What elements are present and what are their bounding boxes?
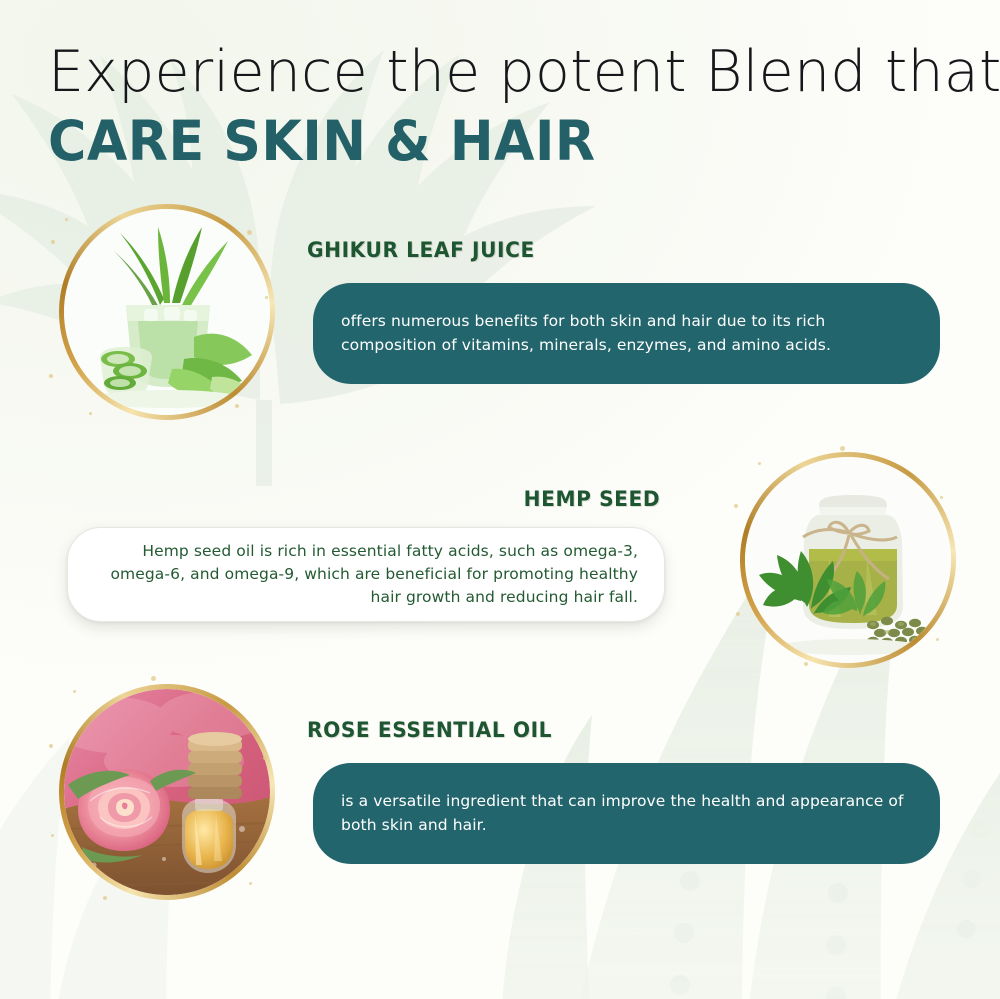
poster-canvas: Experience the potent Blend that CARE SK… (0, 0, 1000, 999)
sparkle-dot (65, 218, 68, 221)
sparkle-dot (840, 446, 845, 451)
hemp-oil-illustration (745, 457, 951, 663)
ingredient-description-text: Hemp seed oil is rich in essential fatty… (94, 540, 638, 610)
sparkle-dot (734, 504, 738, 508)
rose-essential-oil-photo (59, 684, 275, 900)
sparkle-dot (247, 230, 252, 235)
aloe-vera-glass-photo (59, 204, 275, 420)
sparkle-dot (758, 462, 761, 465)
ingredient-title-ghikur-leaf-juice: GHIKUR LEAF JUICE (307, 238, 535, 262)
sparkle-dot (736, 612, 740, 616)
sparkle-dot (249, 882, 252, 885)
sparkle-dot (804, 662, 808, 666)
sparkle-dot (936, 638, 939, 641)
sparkle-dot (265, 296, 268, 299)
sparkle-dot (49, 374, 53, 378)
heading-line-2: CARE SKIN & HAIR (48, 110, 913, 173)
sparkle-dot (51, 240, 55, 244)
aloe-vera-illustration (64, 209, 270, 415)
ingredient-title-hemp-seed: HEMP SEED (524, 487, 660, 511)
sparkle-dot (235, 404, 239, 408)
ingredient-description-text: is a versatile ingredient that can impro… (341, 790, 912, 837)
ingredient-description-box-ghikur-leaf-juice: offers numerous benefits for both skin a… (313, 283, 940, 384)
sparkle-dot (940, 496, 943, 499)
hemp-seed-oil-jar-photo (740, 452, 956, 668)
poster-heading: Experience the potent Blend that CARE SK… (48, 42, 958, 173)
ingredient-description-text: offers numerous benefits for both skin a… (341, 310, 912, 357)
sparkle-dot (49, 744, 53, 748)
photo-frame (64, 689, 270, 895)
photo-frame (64, 209, 270, 415)
sparkle-dot (263, 756, 267, 760)
sparkle-dot (73, 690, 76, 693)
sparkle-dot (151, 676, 156, 681)
sparkle-dot (89, 412, 92, 415)
rose-oil-illustration (64, 689, 270, 895)
heading-line-1: Experience the potent Blend that (48, 42, 958, 104)
photo-frame (745, 457, 951, 663)
ingredient-description-box-hemp-seed: Hemp seed oil is rich in essential fatty… (67, 527, 665, 622)
sparkle-dot (103, 896, 107, 900)
ingredient-description-box-rose-essential-oil: is a versatile ingredient that can impro… (313, 763, 940, 864)
sparkle-dot (51, 834, 54, 837)
ingredient-title-rose-essential-oil: ROSE ESSENTIAL OIL (307, 718, 552, 742)
